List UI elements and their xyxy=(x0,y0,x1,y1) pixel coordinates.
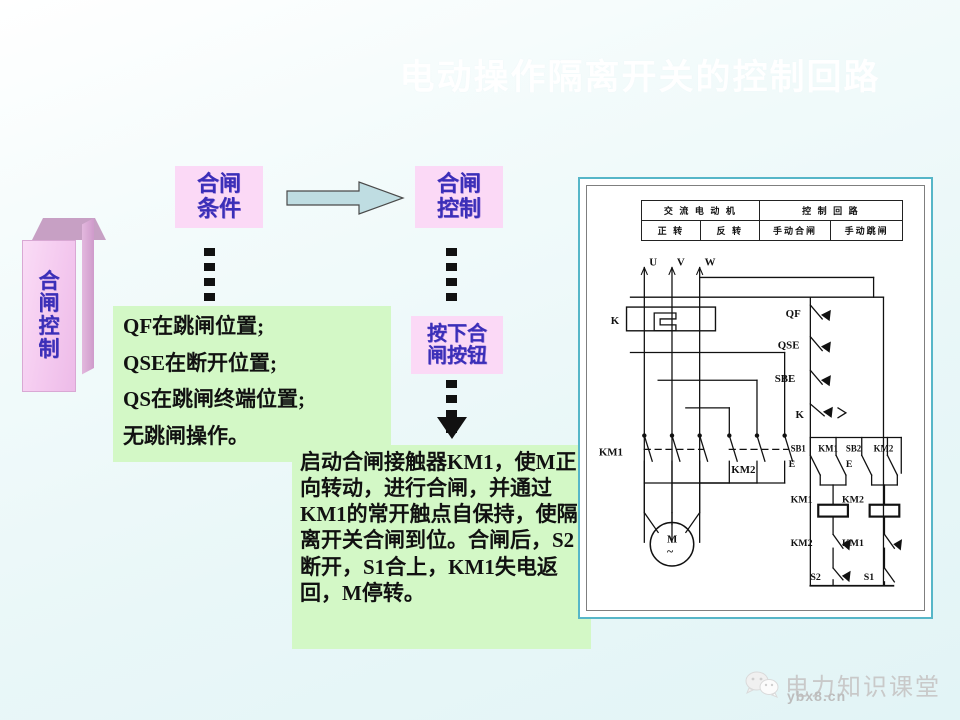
condition-item: QSE在断开位置; xyxy=(123,347,383,380)
label-km1-aux: KM1 xyxy=(818,443,838,453)
label-qse: QSE xyxy=(778,340,800,352)
control-label-box: 合闸 控制 xyxy=(415,166,503,228)
label-phase-w: W xyxy=(705,257,716,269)
sidebar-char-4: 制 xyxy=(39,339,60,362)
watermark: 电力知识课堂 ybx8.cn xyxy=(745,662,955,706)
label-qf: QF xyxy=(786,308,801,320)
label-phase-v: V xyxy=(677,257,685,269)
section-3d-box: 合 闸 控 制 xyxy=(22,218,94,390)
condition-line-2: 条件 xyxy=(197,197,241,222)
sidebar-char-1: 合 xyxy=(39,271,60,294)
label-phase-u: U xyxy=(649,257,657,269)
description-panel: 启动合闸接触器KM1，使M正向转动，进行合闸，并通过KM1的常开触点自保持，使隔… xyxy=(292,445,591,649)
label-s2: S2 xyxy=(810,572,820,583)
condition-line-1: 合闸 xyxy=(197,172,241,197)
control-line-2: 控制 xyxy=(437,197,481,222)
box-side-face xyxy=(82,218,94,374)
wechat-icon xyxy=(745,670,779,698)
label-km2-power: KM2 xyxy=(731,464,755,476)
label-contactor-k: K xyxy=(611,315,620,327)
slide-canvas: 电动操作隔离开关的控制回路 合 闸 控 制 合闸 条件 合闸 控制 xyxy=(0,0,960,720)
description-text: 启动合闸接触器KM1，使M正向转动，进行合闸，并通过KM1的常开触点自保持，使隔… xyxy=(300,449,585,606)
label-sb1: SB1 xyxy=(791,443,806,453)
down-arrowhead-icon xyxy=(437,417,467,439)
sidebar-char-3: 控 xyxy=(39,316,60,339)
press-button-label-box: 按下合 闸按钮 xyxy=(411,316,503,374)
label-e1: E xyxy=(789,459,796,470)
label-e2: E xyxy=(846,459,853,470)
dotted-connector-middle-upper xyxy=(446,248,457,308)
condition-item: QF在跳闸位置; xyxy=(123,310,383,343)
label-motor-ac: ~ xyxy=(667,544,674,558)
label-km2-aux: KM2 xyxy=(874,443,894,453)
diagram-inner-frame: 交 流 电 动 机 控 制 回 路 正 转 反 转 手动合闸 手动跳闸 xyxy=(586,185,925,611)
conditions-panel: QF在跳闸位置; QSE在断开位置; QS在跳闸终端位置; 无跳闸操作。 xyxy=(113,306,391,462)
label-sbe: SBE xyxy=(775,373,796,385)
label-km1-power: KM1 xyxy=(599,446,623,458)
label-interlock-km1: KM1 xyxy=(842,538,864,549)
box-front-face: 合 闸 控 制 xyxy=(22,240,76,392)
circuit-diagram: 交 流 电 动 机 控 制 回 路 正 转 反 转 手动合闸 手动跳闸 xyxy=(578,177,933,619)
press-button-line-1: 按下合 xyxy=(427,323,487,345)
circuit-schematic-svg: U V W K KM1 KM2 QF QSE SBE K SB1 KM1 SB2… xyxy=(587,186,924,610)
control-line-1: 合闸 xyxy=(437,172,481,197)
label-sb2: SB2 xyxy=(846,443,862,453)
box-top-face xyxy=(32,218,106,240)
label-k-contact: K xyxy=(796,409,805,421)
label-coil-km2: KM2 xyxy=(842,495,864,506)
condition-label-box: 合闸 条件 xyxy=(175,166,263,228)
sidebar-char-2: 闸 xyxy=(39,293,60,316)
label-coil-km1: KM1 xyxy=(791,495,813,506)
condition-item: QS在跳闸终端位置; xyxy=(123,383,383,416)
press-button-line-2: 闸按钮 xyxy=(427,345,487,367)
label-interlock-km2: KM2 xyxy=(791,538,813,549)
watermark-url: ybx8.cn xyxy=(787,688,846,704)
page-title: 电动操作隔离开关的控制回路 xyxy=(340,52,940,104)
right-arrow-icon xyxy=(285,180,405,216)
label-s1: S1 xyxy=(864,572,874,583)
